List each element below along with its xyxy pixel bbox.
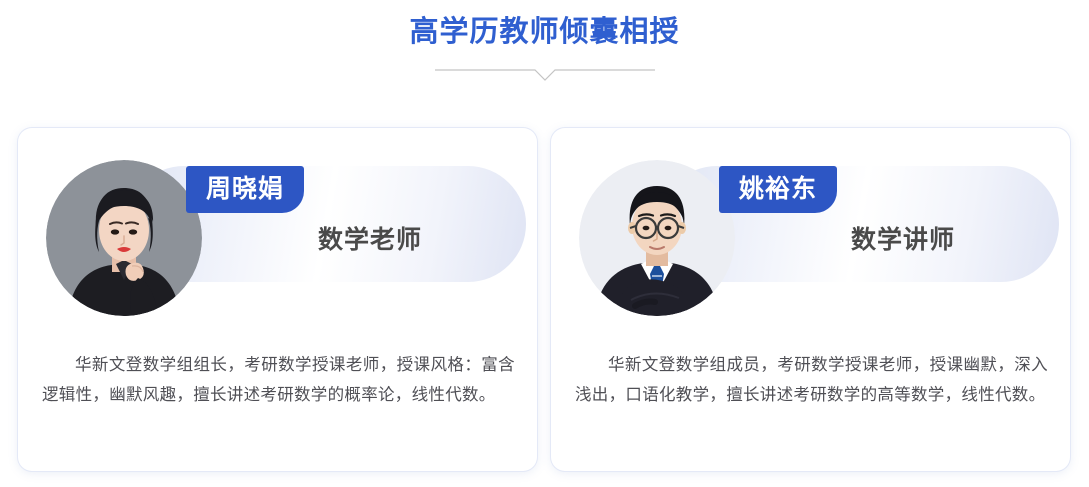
teacher-portrait-male-icon [579, 160, 735, 316]
page-title: 高学历教师倾囊相授 [0, 14, 1089, 50]
name-badge: 周晓娟 [186, 166, 304, 213]
divider [0, 66, 1089, 88]
card-header: 周晓娟 数学老师 [18, 128, 537, 350]
teacher-role: 数学老师 [318, 228, 422, 253]
teacher-card[interactable]: 周晓娟 数学老师 华新文登数学组组长，考研数学授课老师，授课风格：富含逻辑性，幽… [18, 128, 537, 471]
teacher-description: 华新文登数学组成员，考研数学授课老师，授课幽默，深入浅出，口语化教学，擅长讲述考… [575, 350, 1048, 410]
teacher-portrait-female-icon [46, 160, 202, 316]
teacher-role: 数学讲师 [851, 228, 955, 253]
teacher-name: 周晓娟 [206, 177, 284, 202]
divider-chevron-icon [435, 66, 655, 84]
teacher-name: 姚裕东 [739, 177, 817, 202]
card-header: 姚裕东 数学讲师 [551, 128, 1070, 350]
teacher-description: 华新文登数学组组长，考研数学授课老师，授课风格：富含逻辑性，幽默风趣，擅长讲述考… [42, 350, 515, 410]
avatar [579, 160, 735, 316]
teacher-card[interactable]: 姚裕东 数学讲师 华新文登数学组成员，考研数学授课老师，授课幽默，深入浅出，口语… [551, 128, 1070, 471]
section-header: 高学历教师倾囊相授 [0, 0, 1089, 88]
teacher-cards-row: 周晓娟 数学老师 华新文登数学组组长，考研数学授课老师，授课风格：富含逻辑性，幽… [18, 128, 1071, 471]
name-badge: 姚裕东 [719, 166, 837, 213]
avatar [46, 160, 202, 316]
